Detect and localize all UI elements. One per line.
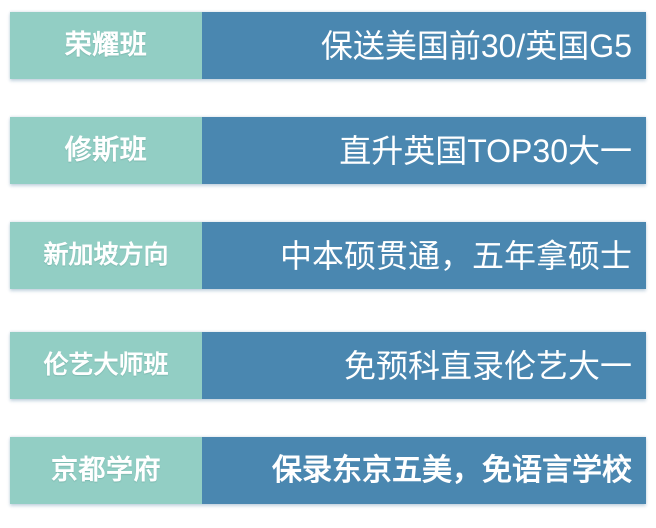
banner-row[interactable]: 伦艺大师班 免预科直录伦艺大一 bbox=[10, 332, 646, 399]
banner-description-text: 免预科直录伦艺大一 bbox=[344, 350, 632, 382]
banner-content-cell: 保录东京五美，免语言学校 bbox=[202, 437, 646, 504]
banner-label-cell: 京都学府 bbox=[10, 437, 202, 504]
banner-content-cell: 中本硕贯通，五年拿硕士 bbox=[202, 222, 646, 289]
banner-description-text: 保送美国前30/英国G5 bbox=[321, 30, 632, 62]
banner-label-text: 伦艺大师班 bbox=[43, 353, 168, 378]
banner-label-text: 修斯班 bbox=[65, 137, 148, 164]
banner-label-cell: 新加坡方向 bbox=[10, 222, 202, 289]
banner-row[interactable]: 京都学府 保录东京五美，免语言学校 bbox=[10, 437, 646, 504]
banner-content-cell: 保送美国前30/英国G5 bbox=[202, 12, 646, 79]
banner-label-cell: 修斯班 bbox=[10, 117, 202, 184]
banner-row[interactable]: 荣耀班 保送美国前30/英国G5 bbox=[10, 12, 646, 79]
banner-label-text: 新加坡方向 bbox=[43, 243, 168, 268]
banner-content-cell: 免预科直录伦艺大一 bbox=[202, 332, 646, 399]
banner-content-cell: 直升英国TOP30大一 bbox=[202, 117, 646, 184]
banner-description-text: 中本硕贯通，五年拿硕士 bbox=[280, 240, 632, 272]
banner-label-cell: 荣耀班 bbox=[10, 12, 202, 79]
banner-description-text: 直升英国TOP30大一 bbox=[339, 135, 632, 167]
banner-label-cell: 伦艺大师班 bbox=[10, 332, 202, 399]
banner-row[interactable]: 新加坡方向 中本硕贯通，五年拿硕士 bbox=[10, 222, 646, 289]
program-track-banner-list: 荣耀班 保送美国前30/英国G5 修斯班 直升英国TOP30大一 新加坡方向 中… bbox=[0, 0, 656, 528]
banner-label-text: 京都学府 bbox=[51, 457, 161, 484]
banner-label-text: 荣耀班 bbox=[65, 32, 148, 59]
banner-row[interactable]: 修斯班 直升英国TOP30大一 bbox=[10, 117, 646, 184]
banner-description-text: 保录东京五美，免语言学校 bbox=[272, 456, 632, 486]
